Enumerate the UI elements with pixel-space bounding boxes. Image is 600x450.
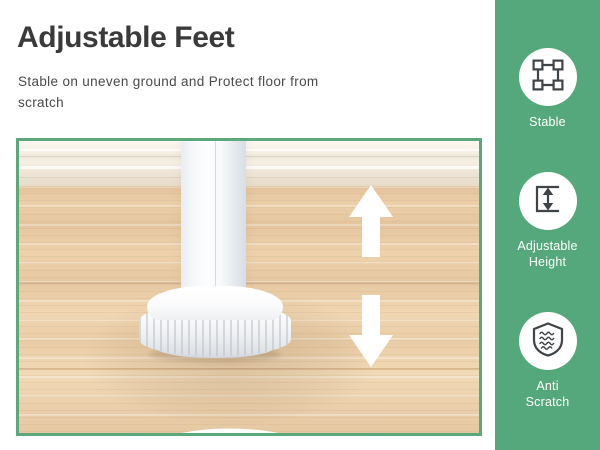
feature-label: Adjustable Height	[517, 239, 577, 270]
product-photo	[16, 138, 482, 436]
content-panel: Adjustable Feet Stable on uneven ground …	[0, 0, 495, 450]
feature-sidebar: Stable Adjustable Height	[495, 0, 600, 450]
shield-scratch-icon	[531, 321, 565, 362]
photo-scene	[19, 141, 479, 433]
adjustable-foot	[139, 286, 291, 364]
feature-stable[interactable]: Stable	[495, 48, 600, 131]
baseboard-highlight	[19, 166, 479, 169]
feature-anti-scratch[interactable]: Anti Scratch	[495, 312, 600, 410]
rotation-arrow-icon	[115, 427, 345, 433]
feature-label: Anti Scratch	[526, 379, 570, 410]
baseboard-groove	[19, 177, 479, 178]
wall-baseboard	[19, 141, 479, 188]
height-adjust-arrows	[341, 181, 401, 371]
page-title: Adjustable Feet	[17, 22, 234, 54]
feature-label: Stable	[529, 115, 566, 131]
feature-icon-circle	[519, 312, 577, 370]
arrow-down-shape	[349, 295, 393, 367]
height-arrow-icon	[531, 182, 565, 221]
feature-icon-circle	[519, 48, 577, 106]
page-subtitle: Stable on uneven ground and Protect floo…	[18, 72, 368, 114]
baseboard-highlight	[19, 149, 479, 151]
stable-frame-icon	[531, 58, 565, 97]
feature-adjustable-height[interactable]: Adjustable Height	[495, 172, 600, 270]
baseboard-groove	[19, 156, 479, 157]
foot-top-cap	[147, 286, 283, 320]
arrow-up-shape	[349, 185, 393, 257]
infographic-root: Adjustable Feet Stable on uneven ground …	[0, 0, 600, 450]
feature-icon-circle	[519, 172, 577, 230]
